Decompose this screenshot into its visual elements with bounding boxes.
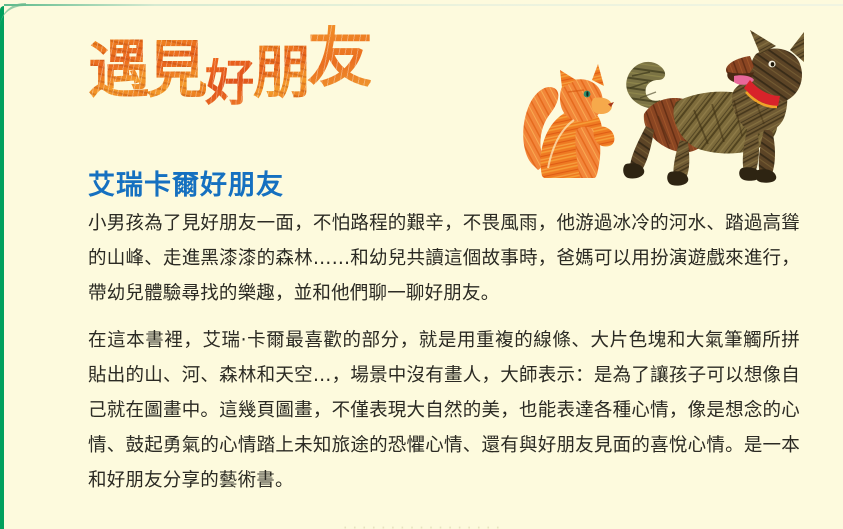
section-subtitle: 艾瑞卡爾好朋友 <box>88 163 284 202</box>
paragraph-1: 小男孩為了見好朋友一面，不怕路程的艱辛，不畏風雨，他游過冰冷的河水、踏過高聳的山… <box>88 206 800 311</box>
bottom-cut-text: · · · · · · · · · · · · · · · · · <box>120 519 723 529</box>
title-char-4: 朋 <box>253 43 309 101</box>
title-char-1: 遇 <box>88 39 148 101</box>
title-char-2: 見 <box>146 39 206 101</box>
body-copy: 小男孩為了見好朋友一面，不怕路程的艱辛，不畏風雨，他游過冰冷的河水、踏過高聳的山… <box>88 206 800 498</box>
title-char-5: 友 <box>307 25 371 91</box>
left-border-rule <box>0 6 4 529</box>
top-border-rule <box>4 4 843 6</box>
page-title: 遇見好朋友 <box>88 36 371 108</box>
paragraph-2: 在這本書裡，艾瑞‧卡爾最喜歡的部分，就是用重複的線條、大片色塊和大氣筆觸所拼貼出… <box>88 323 800 498</box>
dog-figure <box>623 30 804 186</box>
cat-figure <box>523 64 614 178</box>
book-page: 遇見好朋友 艾瑞卡爾好朋友 小男孩為了見好朋友一面，不怕路程的艱辛，不畏風雨，他… <box>0 0 843 529</box>
cat-and-dog-illustration <box>498 18 828 213</box>
title-char-3: 好 <box>205 58 253 108</box>
